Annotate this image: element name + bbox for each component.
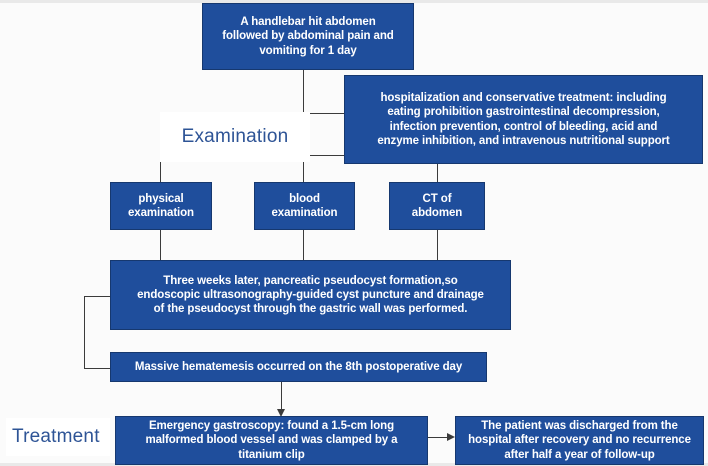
node-gastroscopy[interactable]: Emergency gastroscopy: found a 1.5-cm lo…	[115, 416, 428, 465]
flowchart-canvas: Examination Treatment A handlebar hit ab…	[0, 0, 708, 466]
section-label-examination: Examination	[160, 112, 310, 162]
node-ct-abdomen[interactable]: CT of abdomen	[389, 182, 485, 230]
node-hematemesis[interactable]: Massive hematemesis occurred on the 8th …	[110, 352, 487, 382]
node-presentation[interactable]: A handlebar hit abdomen followed by abdo…	[202, 3, 414, 70]
node-hospitalization[interactable]: hospitalization and conservative treatme…	[344, 75, 703, 164]
node-pseudocyst[interactable]: Three weeks later, pancreatic pseudocyst…	[110, 260, 511, 330]
connector-elbow-to-hematemesis	[84, 368, 110, 369]
node-blood-examination[interactable]: blood examination	[254, 182, 355, 230]
connector-ct-to-pseudocyst	[437, 230, 438, 260]
section-label-treatment: Treatment	[6, 418, 110, 456]
connector-blood-to-pseudocyst	[303, 230, 304, 260]
connector-pseudocyst-elbow-vertical	[84, 296, 85, 368]
node-physical-examination[interactable]: physical examination	[110, 182, 212, 230]
arrowhead-to-discharge	[447, 433, 455, 441]
connector-physical-to-pseudocyst	[160, 230, 161, 260]
connector-pseudocyst-elbow-top	[84, 296, 110, 297]
node-discharge[interactable]: The patient was discharged from the hosp…	[455, 416, 704, 465]
connector-hematemesis-to-gastroscopy	[281, 382, 282, 411]
